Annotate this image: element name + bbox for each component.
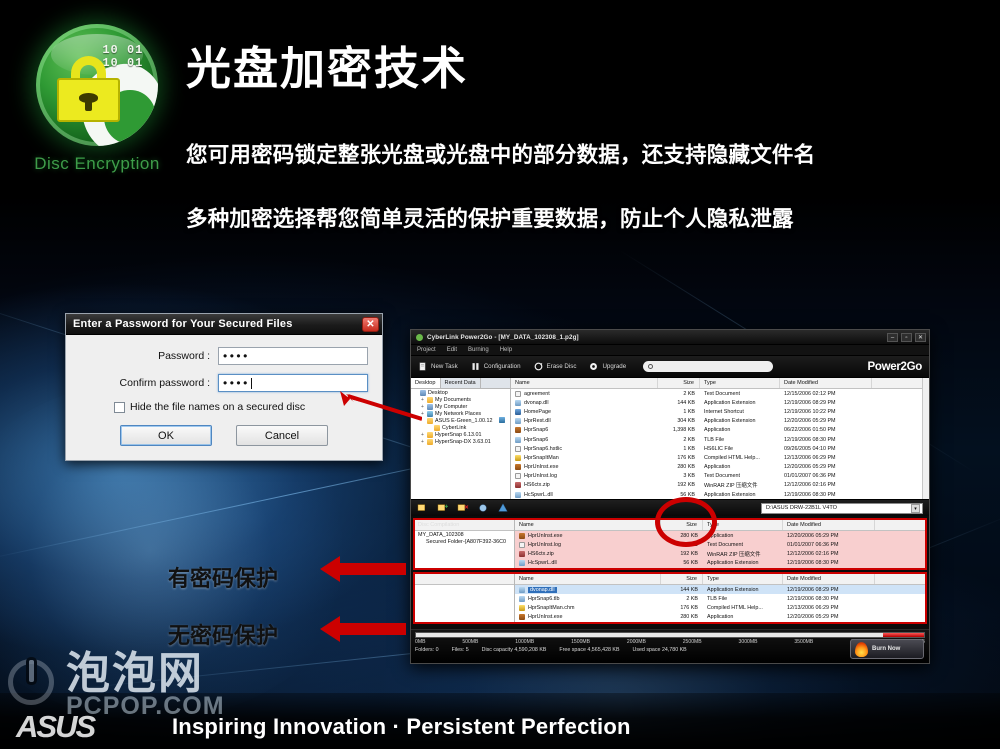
asus-tagline: Inspiring Innovation · Persistent Perfec… bbox=[172, 714, 631, 740]
cell-name: agreement bbox=[511, 391, 658, 397]
drive-selector-value: D:\ASUS DRW-22B1L V4TO bbox=[766, 505, 837, 511]
tree-item[interactable]: +My Network Places bbox=[411, 410, 510, 417]
file-list: agreement2 KBText Document12/15/2006 02:… bbox=[511, 389, 922, 499]
file-name: HS6ctx.zip bbox=[528, 551, 554, 557]
compilation-header: Disc Compilation bbox=[415, 520, 514, 531]
status-free-space: Free space 4,565,428 KB bbox=[559, 647, 619, 653]
cell-size: 2 KB bbox=[658, 437, 700, 443]
disc-badge-icon: 10 01 10 01 bbox=[36, 24, 158, 146]
power2go-title: CyberLink Power2Go - [MY_DATA_102308_1.p… bbox=[427, 334, 887, 341]
toolbar-erase-disc-label: Erase Disc bbox=[547, 363, 577, 370]
power2go-brand: Power2Go bbox=[868, 361, 922, 373]
tree-item-label: Desktop bbox=[428, 390, 448, 396]
table-row[interactable]: HcSpwrL.dll56 KBApplication Extension12/… bbox=[511, 490, 922, 499]
cell-name: HprUnInst.exe bbox=[515, 614, 661, 620]
capacity-tick-labels: 0MB500MB1000MB1500MB2000MB2500MB3000MB35… bbox=[415, 639, 925, 645]
file-browser: Desktop Recent Data Desktop+My Documents… bbox=[411, 378, 929, 499]
column-type[interactable]: Type bbox=[703, 574, 783, 584]
folder-icon bbox=[427, 418, 433, 424]
tlb-file-icon bbox=[519, 596, 525, 602]
upgrade-icon bbox=[589, 362, 598, 371]
network-icon bbox=[427, 411, 433, 417]
tree-item-label: My Documents bbox=[435, 397, 471, 403]
status-disc-capacity: Disc capacity 4,590,208 KB bbox=[482, 647, 547, 653]
cell-type: Application bbox=[703, 614, 783, 620]
cell-name: HprUnInst.log bbox=[515, 542, 661, 548]
capacity-tick: 2500MB bbox=[683, 639, 702, 645]
secured-file-list: HprUnInst.exe280 KBApplication12/20/2006… bbox=[515, 531, 925, 568]
tree-item-label: HyperSnap 6.13.01 bbox=[435, 432, 481, 438]
search-input[interactable] bbox=[643, 361, 773, 372]
toolbar-new-task-label: New Task bbox=[431, 363, 458, 370]
cell-size: 280 KB bbox=[661, 614, 703, 620]
window-controls: – ▫ ✕ bbox=[887, 333, 926, 342]
cell-name: dvonap.dll bbox=[511, 400, 658, 406]
cell-type: TLB File bbox=[700, 437, 780, 443]
cell-name: HprSnap6 bbox=[511, 437, 658, 443]
app-icon bbox=[416, 334, 423, 341]
footer-banner: 泡泡网 PCPOP.COM ASUS Inspiring Innovation … bbox=[0, 693, 1000, 749]
cell-date: 12/19/2006 08:30 PM bbox=[780, 492, 872, 498]
cell-name: HprSnap6.tlb bbox=[515, 596, 661, 602]
table-row[interactable]: dvonap.dll144 KBApplication Extension12/… bbox=[511, 398, 922, 407]
disc-properties-icon[interactable] bbox=[477, 503, 489, 513]
cell-size: 1 KB bbox=[658, 446, 700, 452]
hide-file-names-label: Hide the file names on a secured disc bbox=[130, 401, 305, 413]
tree-item[interactable]: CyberLink bbox=[411, 424, 510, 431]
browser-tabs: Desktop Recent Data bbox=[411, 378, 510, 389]
erase-disc-icon bbox=[534, 362, 543, 371]
cell-date: 12/20/2006 05:29 PM bbox=[783, 614, 875, 620]
page-title: 光盘加密技术 bbox=[186, 32, 468, 97]
help-file-icon bbox=[519, 605, 525, 611]
cell-name: HS6ctx.zip bbox=[515, 551, 661, 557]
cell-name: HprSnap6 bbox=[511, 427, 658, 433]
capacity-tick: 0MB bbox=[415, 639, 425, 645]
cell-size: 304 KB bbox=[658, 418, 700, 424]
cell-name: HS6ctx.zip bbox=[511, 482, 658, 488]
cell-size: 3 KB bbox=[658, 473, 700, 479]
table-row[interactable]: HprSnap61,398 KBApplication06/22/2006 01… bbox=[511, 426, 922, 435]
confirm-password-label: Confirm password : bbox=[98, 377, 218, 389]
file-name: HprUnInst.exe bbox=[528, 614, 562, 620]
column-size[interactable]: Size bbox=[658, 378, 700, 388]
toolbar-upgrade[interactable]: Upgrade bbox=[589, 362, 626, 371]
file-name: dvonap.dll bbox=[528, 587, 557, 593]
file-name: HcSpwrL.dll bbox=[528, 560, 557, 566]
arrow-with-password bbox=[320, 556, 406, 582]
cell-date: 01/01/2007 06:36 PM bbox=[783, 542, 875, 548]
capacity-tick: 3500MB bbox=[794, 639, 813, 645]
tree-item[interactable]: +My Computer bbox=[411, 403, 510, 410]
file-list-scrollbar[interactable] bbox=[922, 378, 929, 499]
password-input-value: •••• bbox=[223, 349, 250, 363]
maximize-icon[interactable]: ▫ bbox=[901, 333, 912, 342]
app-file-icon bbox=[519, 614, 525, 620]
compilation-tree-label: Secured Folder-{A807F392-36C0 bbox=[426, 539, 506, 545]
padlock-body bbox=[57, 78, 120, 121]
chevron-down-icon[interactable]: ▾ bbox=[911, 504, 920, 513]
status-folders: Folders: 0 bbox=[415, 647, 439, 653]
file-name: HprSnap6 bbox=[524, 427, 548, 433]
file-name: HprUnInst.exe bbox=[528, 533, 562, 539]
cell-date: 09/26/2005 04:10 PM bbox=[780, 446, 872, 452]
open-compilation-header bbox=[415, 574, 514, 585]
drive-selector[interactable]: D:\ASUS DRW-22B1L V4TO ▾ bbox=[761, 503, 923, 514]
cell-type: Application bbox=[700, 427, 780, 433]
menu-help[interactable]: Help bbox=[500, 347, 512, 353]
table-row[interactable]: HprSnap6.tlb2 KBTLB File12/19/2006 08:30… bbox=[515, 594, 925, 603]
menu-burning[interactable]: Burning bbox=[468, 347, 489, 353]
power2go-titlebar: CyberLink Power2Go - [MY_DATA_102308_1.p… bbox=[411, 330, 929, 345]
cell-date: 12/19/2006 08:29 PM bbox=[783, 587, 875, 593]
secure-lock-icon[interactable] bbox=[497, 503, 509, 513]
new-folder-icon[interactable] bbox=[437, 503, 449, 513]
arrow-without-password bbox=[320, 616, 406, 642]
cell-type: Compiled HTML Help... bbox=[703, 605, 783, 611]
tlb-file-icon bbox=[515, 437, 521, 443]
cell-date: 12/19/2006 08:30 PM bbox=[780, 437, 872, 443]
file-list-pane: Name Size Type Date Modified agreement2 … bbox=[511, 378, 922, 499]
minimize-icon[interactable]: – bbox=[887, 333, 898, 342]
file-name: HomePage bbox=[524, 409, 551, 415]
file-list-header: Name Size Type Date Modified bbox=[511, 378, 922, 389]
cell-date: 12/20/2006 05:29 PM bbox=[780, 464, 872, 470]
cell-size: 56 KB bbox=[661, 560, 703, 566]
text-file-icon bbox=[515, 473, 521, 479]
tree-expander-icon[interactable]: + bbox=[421, 439, 425, 445]
text-caret bbox=[251, 378, 252, 389]
app-file-icon bbox=[515, 427, 521, 433]
cell-size: 2 KB bbox=[658, 391, 700, 397]
toolbar-configuration-label: Configuration bbox=[484, 363, 521, 370]
tree-item[interactable]: +My Documents bbox=[411, 396, 510, 403]
callout-circle-highlight bbox=[655, 497, 717, 547]
password-input[interactable]: •••• bbox=[218, 347, 368, 365]
folder-tree: Desktop+My Documents+My Computer+My Netw… bbox=[411, 389, 510, 445]
tree-item[interactable]: +HyperSnap-DX 3.63.01 bbox=[411, 438, 510, 445]
cell-date: 12/19/2006 08:30 PM bbox=[783, 560, 875, 566]
cell-date: 12/13/2006 06:29 PM bbox=[780, 455, 872, 461]
cell-date: 06/22/2006 01:50 PM bbox=[780, 427, 872, 433]
cell-date: 12/20/2006 05:29 PM bbox=[783, 533, 875, 539]
dialog-titlebar: Enter a Password for Your Secured Files … bbox=[66, 314, 382, 335]
cell-type: Compiled HTML Help... bbox=[700, 455, 780, 461]
cell-name: HprUnInst.exe bbox=[511, 464, 658, 470]
cell-type: HS6LIC File bbox=[700, 446, 780, 452]
table-row[interactable]: HprUnInst.exe280 KBApplication12/20/2006… bbox=[511, 463, 922, 472]
toolbar-upgrade-label: Upgrade bbox=[602, 363, 626, 370]
new-task-icon bbox=[418, 362, 427, 371]
dll-file-icon bbox=[515, 400, 521, 406]
file-name: HS6ctx.zip bbox=[524, 482, 550, 488]
cell-size: 176 KB bbox=[658, 455, 700, 461]
capacity-tick: 1500MB bbox=[571, 639, 590, 645]
power2go-window[interactable]: CyberLink Power2Go - [MY_DATA_102308_1.p… bbox=[410, 329, 930, 664]
cell-name: HprUnInst.log bbox=[511, 473, 658, 479]
app-file-icon bbox=[515, 464, 521, 470]
dialog-buttons: OK Cancel bbox=[80, 425, 368, 446]
tree-item[interactable]: ASUS E-Green_1.00.12 bbox=[411, 417, 510, 424]
arrow-shaft bbox=[338, 623, 406, 635]
cell-size: 2 KB bbox=[661, 596, 703, 602]
cell-size: 144 KB bbox=[661, 587, 703, 593]
cell-size: 280 KB bbox=[658, 464, 700, 470]
table-row[interactable]: dvonap.dll144 KBApplication Extension12/… bbox=[515, 585, 925, 594]
cell-size: 144 KB bbox=[658, 400, 700, 406]
tree-item-label: My Network Places bbox=[435, 411, 481, 417]
close-icon[interactable]: ✕ bbox=[915, 333, 926, 342]
column-date[interactable]: Date Modified bbox=[783, 574, 875, 584]
confirm-password-input-value: •••• bbox=[223, 376, 250, 390]
cell-type: Application Extension bbox=[700, 400, 780, 406]
cell-name: HprSnapItMan.chm bbox=[515, 605, 661, 611]
cell-type: Application Extension bbox=[700, 492, 780, 498]
cell-date: 12/12/2006 02:16 PM bbox=[780, 482, 872, 488]
hide-file-names-checkbox[interactable] bbox=[114, 402, 125, 413]
text-file-icon bbox=[515, 446, 521, 452]
cell-type: Text Document bbox=[703, 542, 783, 548]
burn-now-button[interactable]: Burn Now bbox=[850, 639, 924, 659]
toolbar-erase-disc[interactable]: Erase Disc bbox=[534, 362, 577, 371]
cancel-button[interactable]: Cancel bbox=[236, 425, 328, 446]
cell-type: Application Extension bbox=[703, 560, 783, 566]
zip-file-icon bbox=[515, 482, 521, 488]
table-row[interactable]: HcSpwrL.dll56 KBApplication Extension12/… bbox=[515, 559, 925, 568]
column-type[interactable]: Type bbox=[700, 378, 780, 388]
password-row: Password : •••• bbox=[80, 347, 368, 365]
file-name: HprSnap6.tlb bbox=[528, 596, 559, 602]
url-file-icon bbox=[515, 409, 521, 415]
table-row[interactable]: HprUnInst.log4 KBText Document01/01/2007… bbox=[515, 540, 925, 549]
subtitle-line-1: 您可用密码锁定整张光盘或光盘中的部分数据，还支持隐藏文件名 bbox=[186, 138, 815, 169]
dialog-title: Enter a Password for Your Secured Files bbox=[73, 318, 362, 330]
table-row[interactable]: HprSnapItMan176 KBCompiled HTML Help...1… bbox=[511, 453, 922, 462]
cell-size: 176 KB bbox=[661, 605, 703, 611]
folder-icon bbox=[427, 397, 433, 403]
folder-icon bbox=[427, 439, 433, 445]
menubar: Project Edit Burning Help bbox=[411, 345, 929, 356]
cell-type: Application bbox=[703, 533, 783, 539]
compilation-tree: MY_DATA_102308Secured Folder-{A807F392-3… bbox=[415, 531, 514, 545]
table-row[interactable]: HprSnapItMan.chm176 KBCompiled HTML Help… bbox=[515, 603, 925, 612]
table-row[interactable]: HprRest.dll304 KBApplication Extension12… bbox=[511, 417, 922, 426]
padlock-keyhole bbox=[85, 101, 92, 111]
cell-name: HomePage bbox=[511, 409, 658, 415]
binary-line-1: 10 01 bbox=[102, 44, 143, 57]
cell-date: 12/13/2006 06:29 PM bbox=[783, 605, 875, 611]
cell-type: WinRAR ZIP 压缩文件 bbox=[703, 550, 783, 558]
capacity-tick: 3000MB bbox=[739, 639, 758, 645]
burn-now-label: Burn Now bbox=[872, 646, 900, 652]
secured-list-header: Name Size Type Date Modified bbox=[515, 520, 925, 531]
status-text: Folders: 0 Files: 5 Disc capacity 4,590,… bbox=[415, 647, 925, 653]
arrow-head-icon bbox=[320, 556, 340, 582]
open-tree-pane bbox=[415, 574, 515, 622]
table-row[interactable]: HprUnInst.log3 KBText Document01/01/2007… bbox=[511, 472, 922, 481]
file-name: HprUnInst.exe bbox=[524, 464, 558, 470]
cell-type: Internet Shortcut bbox=[700, 409, 780, 415]
dll-file-icon bbox=[515, 418, 521, 424]
cell-date: 12/15/2006 02:12 PM bbox=[780, 391, 872, 397]
search-icon bbox=[648, 364, 653, 369]
capacity-bar bbox=[415, 632, 925, 638]
column-pad bbox=[875, 520, 925, 530]
close-icon[interactable]: ✕ bbox=[362, 317, 379, 332]
toolbar-new-task[interactable]: New Task bbox=[418, 362, 458, 371]
cell-date: 12/19/2006 08:30 PM bbox=[783, 596, 875, 602]
cell-size: 192 KB bbox=[658, 482, 700, 488]
text-file-icon bbox=[519, 542, 525, 548]
compilation-tree-label: MY_DATA_102308 bbox=[418, 532, 464, 538]
configuration-icon bbox=[471, 362, 480, 371]
open-file-list-pane: Name Size Type Date Modified dvonap.dll1… bbox=[515, 574, 925, 622]
column-pad bbox=[872, 378, 922, 388]
password-dialog[interactable]: Enter a Password for Your Secured Files … bbox=[65, 313, 383, 461]
cell-name: HcSpwrL.dll bbox=[515, 560, 661, 566]
cell-name: HprRest.dll bbox=[511, 418, 658, 424]
file-name: dvonap.dll bbox=[524, 400, 549, 406]
table-row[interactable]: HS6ctx.zip192 KBWinRAR ZIP 压缩文件12/12/200… bbox=[511, 481, 922, 490]
table-row[interactable]: agreement2 KBText Document12/15/2006 02:… bbox=[511, 389, 922, 398]
cell-type: Application Extension bbox=[703, 587, 783, 593]
tree-item-label: My Computer bbox=[435, 404, 467, 410]
file-name: HprUnInst.log bbox=[528, 542, 561, 548]
folder-icon bbox=[434, 425, 440, 431]
status-files: Files: 5 bbox=[452, 647, 469, 653]
cell-name: dvonap.dll bbox=[515, 587, 661, 593]
column-date[interactable]: Date Modified bbox=[780, 378, 872, 388]
status-bar: 0MB500MB1000MB1500MB2000MB2500MB3000MB35… bbox=[411, 629, 929, 663]
file-name: HprSnapItMan.chm bbox=[528, 605, 574, 611]
file-name: HprRest.dll bbox=[524, 418, 551, 424]
password-label: Password : bbox=[98, 350, 218, 362]
app-file-icon bbox=[519, 533, 525, 539]
dll-file-icon bbox=[519, 560, 525, 566]
asus-logo: ASUS bbox=[16, 709, 166, 743]
cell-date: 12/19/2006 10:22 PM bbox=[780, 409, 872, 415]
table-row[interactable]: HomePage1 KBInternet Shortcut12/19/2006 … bbox=[511, 407, 922, 416]
confirm-password-row: Confirm password : •••• bbox=[80, 374, 368, 392]
cell-date: 12/20/2006 05:29 PM bbox=[780, 418, 872, 424]
open-compilation-panel: Name Size Type Date Modified dvonap.dll1… bbox=[413, 572, 927, 624]
tab-desktop[interactable]: Desktop bbox=[411, 378, 441, 388]
menu-edit[interactable]: Edit bbox=[447, 347, 457, 353]
table-row[interactable]: HprSnap62 KBTLB File12/19/2006 08:30 PM bbox=[511, 435, 922, 444]
toolbar: New Task Configuration Erase Disc Upgrad… bbox=[411, 356, 929, 378]
dll-file-icon bbox=[519, 587, 525, 593]
cell-type: Application Extension bbox=[700, 418, 780, 424]
compilation-tree-item[interactable]: MY_DATA_102308 bbox=[415, 531, 514, 538]
menu-project[interactable]: Project bbox=[417, 347, 436, 353]
compilation-tree-item[interactable]: Secured Folder-{A807F392-36C0 bbox=[415, 538, 514, 545]
file-name: agreement bbox=[524, 391, 550, 397]
column-date[interactable]: Date Modified bbox=[783, 520, 875, 530]
label-with-password: 有密码保护 bbox=[168, 561, 278, 593]
secured-folder-icon bbox=[499, 417, 505, 423]
tree-item-label: HyperSnap-DX 3.63.01 bbox=[435, 439, 491, 445]
power-watermark-icon bbox=[8, 659, 54, 705]
table-row[interactable]: HS6ctx.zip192 KBWinRAR ZIP 压缩文件12/12/200… bbox=[515, 550, 925, 559]
hide-file-names-row[interactable]: Hide the file names on a secured disc bbox=[80, 401, 368, 413]
cell-name: HprSnapItMan bbox=[511, 455, 658, 461]
capacity-tick: 500MB bbox=[462, 639, 478, 645]
cell-date: 12/19/2006 08:29 PM bbox=[780, 400, 872, 406]
computer-icon bbox=[427, 404, 433, 410]
tab-recent-data[interactable]: Recent Data bbox=[441, 378, 481, 388]
cell-size: 1 KB bbox=[658, 409, 700, 415]
text-file-icon bbox=[515, 391, 521, 397]
disc-encryption-logo: 10 01 10 01 Disc Encryption bbox=[22, 24, 172, 174]
open-file-list: dvonap.dll144 KBApplication Extension12/… bbox=[515, 585, 925, 622]
capacity-tick: 1000MB bbox=[515, 639, 534, 645]
subtitle-line-2: 多种加密选择帮您简单灵活的保护重要数据，防止个人隐私泄露 bbox=[186, 202, 794, 233]
table-row[interactable]: HprSnap6.hstlic1 KBHS6LIC File09/26/2005… bbox=[511, 444, 922, 453]
tree-item-label: CyberLink bbox=[442, 425, 466, 431]
tree-pane: Desktop Recent Data Desktop+My Documents… bbox=[411, 378, 511, 499]
arrow-shaft bbox=[338, 563, 406, 575]
cell-type: Application bbox=[700, 464, 780, 470]
capacity-used-segment bbox=[883, 633, 924, 637]
arrow-head-icon bbox=[320, 616, 340, 642]
compilation-tree-pane: Disc Compilation MY_DATA_102308Secured F… bbox=[415, 520, 515, 568]
folder-icon bbox=[427, 432, 433, 438]
tree-item-label: ASUS E-Green_1.00.12 bbox=[435, 418, 493, 424]
cell-name: HprSnap6.hstlic bbox=[511, 446, 658, 452]
cell-size: 192 KB bbox=[661, 551, 703, 557]
tree-item[interactable]: Desktop bbox=[411, 389, 510, 396]
cell-date: 12/12/2006 02:16 PM bbox=[783, 551, 875, 557]
open-list-header: Name Size Type Date Modified bbox=[515, 574, 925, 585]
cell-name: HcSpwrL.dll bbox=[511, 492, 658, 498]
file-name: HprSnap6.hstlic bbox=[524, 446, 562, 452]
secured-file-list-pane: Name Size Type Date Modified HprUnInst.e… bbox=[515, 520, 925, 568]
column-name[interactable]: Name bbox=[511, 378, 658, 388]
add-files-icon[interactable] bbox=[417, 503, 429, 513]
file-name: HprSnapItMan bbox=[524, 455, 559, 461]
dll-file-icon bbox=[515, 492, 521, 498]
cell-type: TLB File bbox=[703, 596, 783, 602]
table-row[interactable]: HprUnInst.exe280 KBApplication12/20/2006… bbox=[515, 613, 925, 622]
file-name: HcSpwrL.dll bbox=[524, 492, 553, 498]
cell-type: WinRAR ZIP 压缩文件 bbox=[700, 481, 780, 489]
help-file-icon bbox=[515, 455, 521, 461]
cell-type: Text Document bbox=[700, 391, 780, 397]
file-name: HprUnInst.log bbox=[524, 473, 557, 479]
zip-file-icon bbox=[519, 551, 525, 557]
flame-icon bbox=[855, 642, 868, 657]
delete-files-icon[interactable] bbox=[457, 503, 469, 513]
ok-button[interactable]: OK bbox=[120, 425, 212, 446]
cell-name: HprUnInst.exe bbox=[515, 533, 661, 539]
column-name[interactable]: Name bbox=[515, 520, 661, 530]
file-name: HprSnap6 bbox=[524, 437, 548, 443]
callout-arrow-to-dialog bbox=[330, 388, 422, 422]
padlock-icon bbox=[57, 56, 120, 122]
status-used-space: Used space 24,780 KB bbox=[633, 647, 687, 653]
toolbar-configuration[interactable]: Configuration bbox=[471, 362, 521, 371]
column-size[interactable]: Size bbox=[661, 574, 703, 584]
table-row[interactable]: HprUnInst.exe280 KBApplication12/20/2006… bbox=[515, 531, 925, 540]
cell-type: Text Document bbox=[700, 473, 780, 479]
column-pad bbox=[875, 574, 925, 584]
cell-size: 1,398 KB bbox=[658, 427, 700, 433]
logo-caption: Disc Encryption bbox=[22, 154, 172, 174]
column-name[interactable]: Name bbox=[515, 574, 661, 584]
tree-item[interactable]: +HyperSnap 6.13.01 bbox=[411, 431, 510, 438]
tree-expander-icon[interactable]: + bbox=[421, 432, 425, 438]
cell-date: 01/01/2007 06:36 PM bbox=[780, 473, 872, 479]
